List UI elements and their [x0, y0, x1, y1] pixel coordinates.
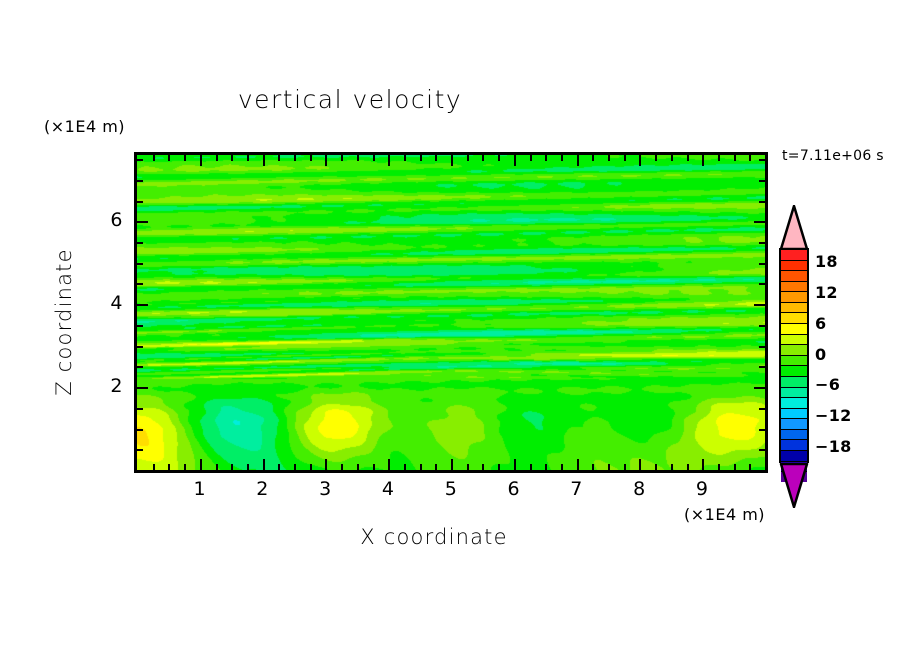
x-minor-tick — [561, 464, 563, 470]
y-major-tick-right — [754, 221, 765, 223]
x-minor-tick — [420, 464, 422, 470]
x-minor-tick-top — [655, 155, 657, 161]
y-minor-tick-right — [759, 325, 765, 327]
x-major-tick-top — [451, 155, 453, 166]
x-minor-tick-top — [749, 155, 751, 161]
y-minor-tick — [137, 263, 143, 265]
x-tick-label: 4 — [368, 478, 408, 500]
x-major-tick-top — [263, 155, 265, 166]
x-minor-tick-top — [153, 155, 155, 161]
colorbar-band — [781, 271, 807, 282]
colorbar-band — [781, 250, 807, 261]
x-minor-tick — [278, 464, 280, 470]
y-minor-tick-right — [759, 242, 765, 244]
x-minor-tick-top — [498, 155, 500, 161]
x-minor-tick-top — [216, 155, 218, 161]
y-major-tick — [137, 221, 148, 223]
y-tick-label: 2 — [93, 375, 123, 397]
x-minor-tick — [530, 464, 532, 470]
x-minor-tick-top — [278, 155, 280, 161]
colorbar-band — [781, 356, 807, 367]
colorbar-tick-label: −6 — [815, 375, 840, 394]
y-minor-tick — [137, 449, 143, 451]
colorbar-band — [781, 324, 807, 335]
x-minor-tick — [734, 464, 736, 470]
x-minor-tick — [373, 464, 375, 470]
x-tick-label: 7 — [557, 478, 597, 500]
colorbar — [779, 205, 809, 505]
x-major-tick-top — [325, 155, 327, 166]
x-minor-tick-top — [404, 155, 406, 161]
y-minor-tick — [137, 408, 143, 410]
x-minor-tick-top — [592, 155, 594, 161]
x-minor-tick-top — [530, 155, 532, 161]
x-major-tick-top — [388, 155, 390, 166]
x-minor-tick — [687, 464, 689, 470]
y-minor-tick — [137, 325, 143, 327]
y-minor-tick — [137, 180, 143, 182]
x-minor-tick-top — [341, 155, 343, 161]
y-major-tick — [137, 304, 148, 306]
y-minor-tick-right — [759, 408, 765, 410]
x-minor-tick-top — [310, 155, 312, 161]
y-minor-tick-right — [759, 283, 765, 285]
x-major-tick — [577, 459, 579, 470]
colorbar-band — [781, 440, 807, 451]
y-tick-label: 4 — [93, 292, 123, 314]
colorbar-under-arrow — [779, 463, 809, 508]
x-tick-label: 3 — [305, 478, 345, 500]
x-major-tick-top — [577, 155, 579, 166]
x-minor-tick-top — [624, 155, 626, 161]
x-minor-tick-top — [231, 155, 233, 161]
y-major-tick-right — [754, 387, 765, 389]
x-minor-tick — [655, 464, 657, 470]
colorbar-band — [781, 366, 807, 377]
y-axis-title: Z coordinate — [52, 222, 76, 422]
colorbar-tick-label: 12 — [815, 283, 838, 302]
colorbar-tick-label: 6 — [815, 314, 826, 333]
colorbar-band — [781, 282, 807, 293]
y-minor-tick — [137, 201, 143, 203]
x-major-tick — [702, 459, 704, 470]
x-major-tick — [639, 459, 641, 470]
y-minor-tick — [137, 283, 143, 285]
y-minor-tick — [137, 159, 143, 161]
x-axis-unit-label: (×1E4 m) — [684, 505, 765, 524]
x-minor-tick — [467, 464, 469, 470]
x-minor-tick-top — [247, 155, 249, 161]
x-minor-tick-top — [467, 155, 469, 161]
y-minor-tick — [137, 429, 143, 431]
colorbar-band — [781, 388, 807, 399]
x-minor-tick — [216, 464, 218, 470]
x-major-tick — [388, 459, 390, 470]
x-minor-tick — [545, 464, 547, 470]
y-minor-tick-right — [759, 201, 765, 203]
x-major-tick — [514, 459, 516, 470]
x-tick-label: 2 — [243, 478, 283, 500]
x-minor-tick-top — [373, 155, 375, 161]
colorbar-band — [781, 261, 807, 272]
x-minor-tick — [624, 464, 626, 470]
x-minor-tick-top — [184, 155, 186, 161]
colorbar-band — [781, 419, 807, 430]
x-minor-tick-top — [357, 155, 359, 161]
colorbar-band — [781, 313, 807, 324]
x-minor-tick — [357, 464, 359, 470]
x-major-tick-top — [514, 155, 516, 166]
x-minor-tick — [671, 464, 673, 470]
colorbar-band — [781, 292, 807, 303]
colorbar-tick-label: −12 — [815, 406, 852, 425]
y-major-tick — [137, 387, 148, 389]
contour-field — [137, 155, 765, 470]
x-axis-title: X coordinate — [284, 525, 584, 549]
colorbar-band — [781, 398, 807, 409]
figure-canvas: vertical velocity (×1E4 m) (×1E4 m) t=7.… — [0, 0, 904, 654]
x-tick-label: 5 — [431, 478, 471, 500]
colorbar-band — [781, 303, 807, 314]
y-minor-tick-right — [759, 180, 765, 182]
x-minor-tick — [310, 464, 312, 470]
x-minor-tick — [168, 464, 170, 470]
colorbar-tick-label: 0 — [815, 345, 826, 364]
x-major-tick-top — [639, 155, 641, 166]
x-minor-tick-top — [435, 155, 437, 161]
colorbar-band — [781, 345, 807, 356]
y-minor-tick-right — [759, 159, 765, 161]
x-minor-tick — [592, 464, 594, 470]
x-tick-label: 1 — [180, 478, 220, 500]
page-title: vertical velocity — [0, 85, 700, 114]
x-minor-tick — [498, 464, 500, 470]
y-major-tick-right — [754, 304, 765, 306]
x-major-tick — [200, 459, 202, 470]
colorbar-tick-label: −18 — [815, 437, 852, 456]
y-minor-tick — [137, 346, 143, 348]
x-minor-tick — [718, 464, 720, 470]
y-minor-tick-right — [759, 449, 765, 451]
y-axis-unit-label: (×1E4 m) — [44, 117, 125, 136]
colorbar-band — [781, 377, 807, 388]
x-major-tick — [325, 459, 327, 470]
colorbar-band — [781, 430, 807, 441]
y-minor-tick-right — [759, 429, 765, 431]
x-tick-label: 9 — [682, 478, 722, 500]
colorbar-band — [781, 409, 807, 420]
x-minor-tick-top — [482, 155, 484, 161]
y-minor-tick-right — [759, 263, 765, 265]
x-minor-tick-top — [168, 155, 170, 161]
y-minor-tick — [137, 242, 143, 244]
x-major-tick — [263, 459, 265, 470]
x-minor-tick — [749, 464, 751, 470]
colorbar-bands — [779, 248, 809, 463]
x-minor-tick — [482, 464, 484, 470]
x-minor-tick-top — [734, 155, 736, 161]
x-minor-tick-top — [294, 155, 296, 161]
x-minor-tick-top — [545, 155, 547, 161]
contour-plot-area — [134, 152, 768, 473]
x-tick-label: 8 — [619, 478, 659, 500]
colorbar-tick-label: 18 — [815, 252, 838, 271]
x-minor-tick — [341, 464, 343, 470]
x-minor-tick — [404, 464, 406, 470]
x-minor-tick — [294, 464, 296, 470]
x-minor-tick-top — [671, 155, 673, 161]
x-minor-tick-top — [718, 155, 720, 161]
time-annotation: t=7.11e+06 s — [782, 148, 884, 164]
y-minor-tick-right — [759, 346, 765, 348]
x-minor-tick — [608, 464, 610, 470]
x-minor-tick — [153, 464, 155, 470]
y-tick-label: 6 — [93, 209, 123, 231]
x-minor-tick-top — [420, 155, 422, 161]
x-minor-tick-top — [687, 155, 689, 161]
x-tick-label: 6 — [494, 478, 534, 500]
y-minor-tick — [137, 366, 143, 368]
x-major-tick — [451, 459, 453, 470]
x-minor-tick-top — [561, 155, 563, 161]
x-minor-tick — [184, 464, 186, 470]
colorbar-band — [781, 335, 807, 346]
colorbar-over-arrow — [779, 205, 809, 250]
x-major-tick-top — [200, 155, 202, 166]
x-minor-tick — [435, 464, 437, 470]
colorbar-band — [781, 451, 807, 462]
x-minor-tick-top — [608, 155, 610, 161]
x-major-tick-top — [702, 155, 704, 166]
x-minor-tick — [231, 464, 233, 470]
x-minor-tick — [247, 464, 249, 470]
y-minor-tick-right — [759, 366, 765, 368]
